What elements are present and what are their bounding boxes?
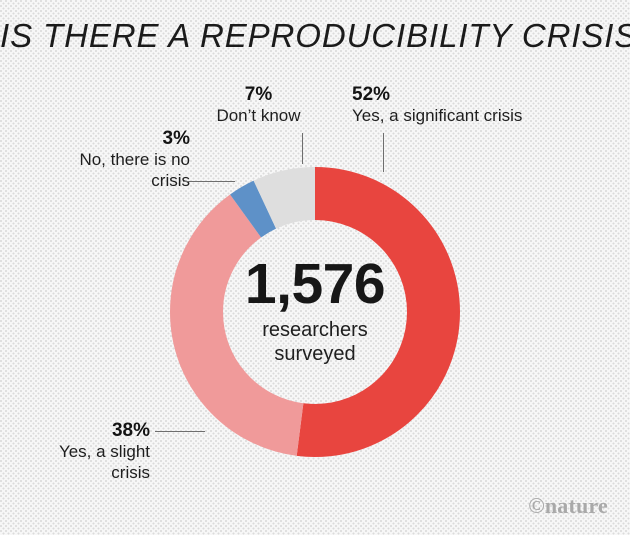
leader-line-no-crisis — [183, 181, 235, 182]
nature-logo: ©nature — [528, 493, 608, 519]
callout-significant-crisis-percent: 52% — [352, 84, 522, 106]
leader-line-significant-crisis — [383, 133, 384, 172]
callout-slight-crisis-label: Yes, a slight crisis — [20, 442, 150, 483]
callout-significant-crisis: 52% Yes, a significant crisis — [352, 84, 522, 127]
infographic-figure: IS THERE A REPRODUCIBILITY CRISIS? 1,576… — [0, 0, 630, 535]
leader-line-dont-know — [302, 133, 303, 164]
donut-chart: 1,576 researchers surveyed — [170, 167, 460, 457]
callout-dont-know: 7% Don’t know — [196, 84, 321, 127]
callout-no-crisis: 3% No, there is no crisis — [30, 128, 190, 191]
page-title: IS THERE A REPRODUCIBILITY CRISIS? — [0, 17, 630, 55]
callout-slight-crisis: 38% Yes, a slight crisis — [20, 420, 150, 483]
callout-no-crisis-percent: 3% — [30, 128, 190, 150]
callout-significant-crisis-label: Yes, a significant crisis — [352, 106, 522, 127]
leader-line-slight-crisis — [155, 431, 205, 432]
callout-dont-know-percent: 7% — [196, 84, 321, 106]
callout-slight-crisis-percent: 38% — [20, 420, 150, 442]
callout-no-crisis-label: No, there is no crisis — [30, 150, 190, 191]
donut-chart-svg — [170, 167, 460, 457]
callout-dont-know-label: Don’t know — [196, 106, 321, 127]
